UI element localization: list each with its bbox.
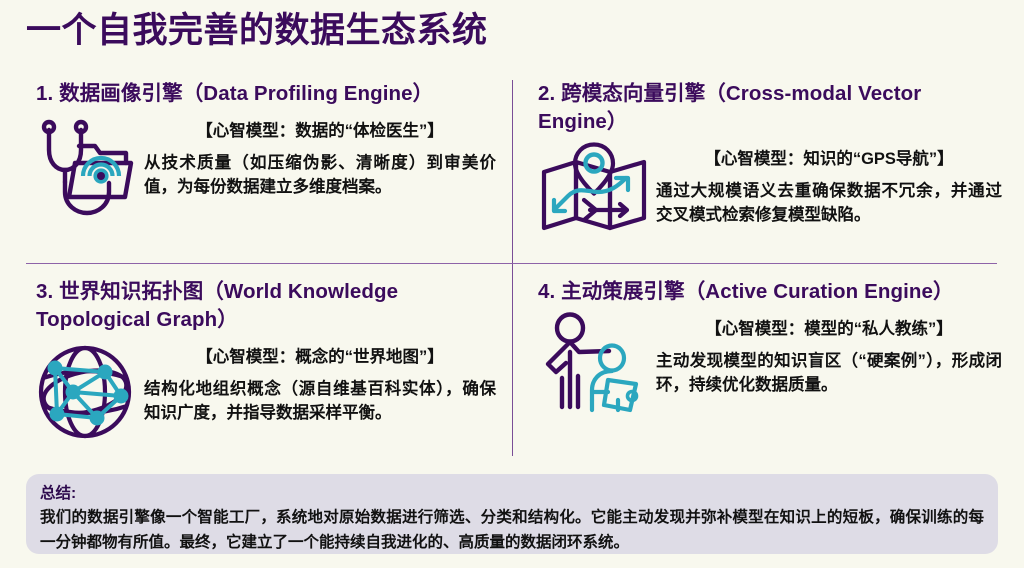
quadrant-1-heading: 1. 数据画像引擎（Data Profiling Engine） — [26, 80, 496, 108]
quadrant-data-profiling-engine: 1. 数据画像引擎（Data Profiling Engine） — [26, 80, 496, 258]
coach-trainee-icon — [532, 312, 656, 418]
quadrant-3-text: 【心智模型：概念的“世界地图”】 结构化地组织概念（源自维基百科实体），确保知识… — [144, 340, 496, 425]
quadrant-2-text: 【心智模型：知识的“GPS导航”】 通过大规模语义去重确保数据不冗余，并通过交叉… — [656, 142, 1002, 227]
quadrant-3-heading: 3. 世界知识拓扑图（World Knowledge Topological G… — [26, 278, 496, 334]
quadrant-world-knowledge-topological-graph: 3. 世界知识拓扑图（World Knowledge Topological G… — [26, 278, 496, 456]
quadrant-3-description: 结构化地组织概念（源自维基百科实体），确保知识广度，并指导数据采样平衡。 — [144, 377, 496, 425]
quadrant-4-description: 主动发现模型的知识盲区（“硬案例”），形成闭环，持续优化数据质量。 — [656, 349, 1002, 397]
quadrant-3-mental-model: 【心智模型：概念的“世界地图”】 — [144, 346, 496, 368]
summary-box: 总结: 我们的数据引擎像一个智能工厂，系统地对原始数据进行筛选、分类和结构化。它… — [26, 474, 998, 554]
vertical-divider — [512, 80, 513, 456]
stethoscope-folder-icon — [26, 114, 144, 220]
horizontal-divider — [26, 263, 997, 264]
map-pin-routes-icon — [532, 142, 656, 248]
quadrant-cross-modal-vector-engine: 2. 跨模态向量引擎（Cross-modal Vector Engine） — [532, 80, 1002, 258]
quadrant-2-description: 通过大规模语义去重确保数据不冗余，并通过交叉模式检索修复模型缺陷。 — [656, 179, 1002, 227]
quadrant-4-text: 【心智模型：模型的“私人教练”】 主动发现模型的知识盲区（“硬案例”），形成闭环… — [656, 312, 1002, 397]
quadrant-3-body: 【心智模型：概念的“世界地图”】 结构化地组织概念（源自维基百科实体），确保知识… — [26, 340, 496, 446]
quadrant-2-heading: 2. 跨模态向量引擎（Cross-modal Vector Engine） — [532, 80, 1002, 136]
quadrant-4-body: 【心智模型：模型的“私人教练”】 主动发现模型的知识盲区（“硬案例”），形成闭环… — [532, 312, 1002, 418]
page-title: 一个自我完善的数据生态系统 — [26, 8, 488, 54]
quadrant-active-curation-engine: 4. 主动策展引擎（Active Curation Engine） — [532, 278, 1002, 456]
quadrant-2-mental-model: 【心智模型：知识的“GPS导航”】 — [656, 148, 1002, 170]
quadrant-1-text: 【心智模型：数据的“体检医生”】 从技术质量（如压缩伪影、清晰度）到审美价值，为… — [144, 114, 496, 199]
summary-text: 我们的数据引擎像一个智能工厂，系统地对原始数据进行筛选、分类和结构化。它能主动发… — [40, 505, 984, 555]
quadrant-1-description: 从技术质量（如压缩伪影、清晰度）到审美价值，为每份数据建立多维度档案。 — [144, 151, 496, 199]
quadrant-4-heading: 4. 主动策展引擎（Active Curation Engine） — [532, 278, 1002, 306]
globe-network-icon — [26, 340, 144, 446]
quadrant-1-mental-model: 【心智模型：数据的“体检医生”】 — [144, 120, 496, 142]
quadrant-1-body: 【心智模型：数据的“体检医生”】 从技术质量（如压缩伪影、清晰度）到审美价值，为… — [26, 114, 496, 220]
quadrant-2-body: 【心智模型：知识的“GPS导航”】 通过大规模语义去重确保数据不冗余，并通过交叉… — [532, 142, 1002, 248]
summary-label: 总结: — [40, 483, 984, 504]
slide-canvas: 一个自我完善的数据生态系统 1. 数据画像引擎（Data Profiling E… — [0, 0, 1024, 568]
quadrant-4-mental-model: 【心智模型：模型的“私人教练”】 — [656, 318, 1002, 340]
